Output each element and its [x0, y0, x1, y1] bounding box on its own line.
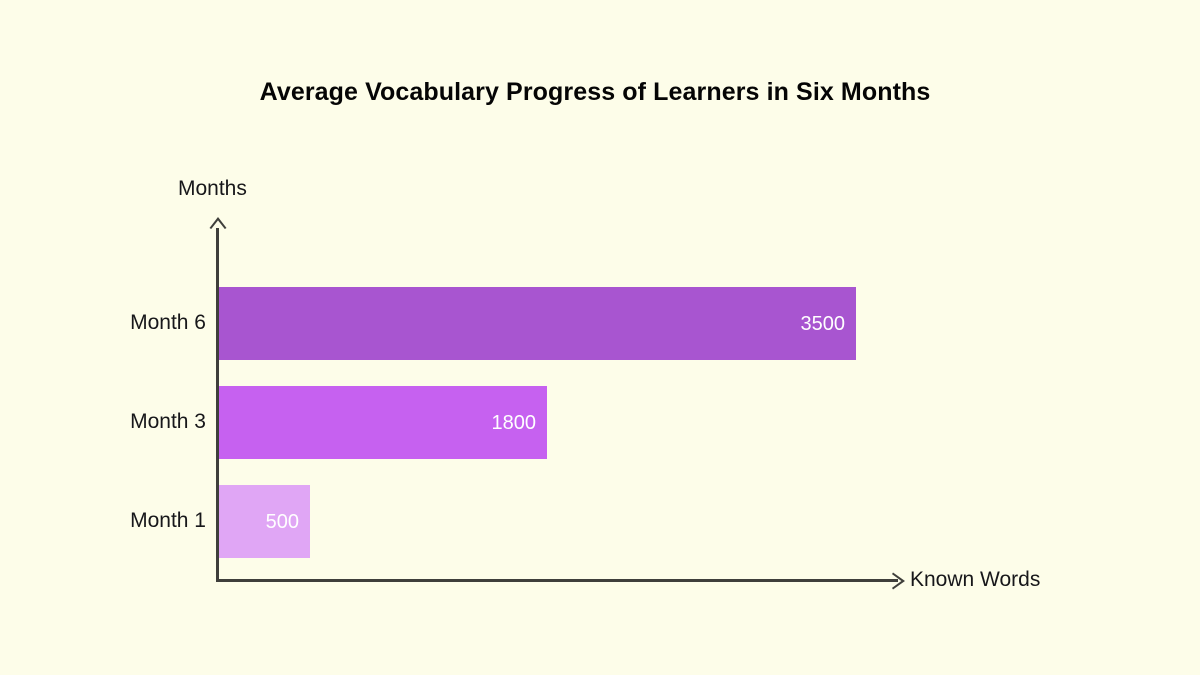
plot-area: 35001800500: [219, 287, 919, 579]
y-axis-title: Months: [178, 177, 247, 201]
bar-month-1[interactable]: 500: [219, 485, 310, 558]
bar-month-3[interactable]: 1800: [219, 386, 547, 459]
x-axis-line: [216, 579, 898, 582]
y-tick-month-3: Month 3: [10, 410, 206, 434]
y-tick-month-6: Month 6: [10, 311, 206, 335]
bar-rect[interactable]: 1800: [219, 386, 547, 459]
y-tick-month-1: Month 1: [10, 509, 206, 533]
bar-value-label: 3500: [801, 314, 846, 334]
chart-canvas: Average Vocabulary Progress of Learners …: [0, 0, 1200, 675]
arrow-up-icon: [208, 216, 228, 236]
bar-rect[interactable]: 3500: [219, 287, 856, 360]
bar-rect[interactable]: 500: [219, 485, 310, 558]
x-axis-title: Known Words: [910, 568, 1040, 592]
bar-value-label: 500: [266, 512, 299, 532]
bar-month-6[interactable]: 3500: [219, 287, 856, 360]
chart-title: Average Vocabulary Progress of Learners …: [0, 78, 1190, 107]
bar-value-label: 1800: [492, 413, 537, 433]
